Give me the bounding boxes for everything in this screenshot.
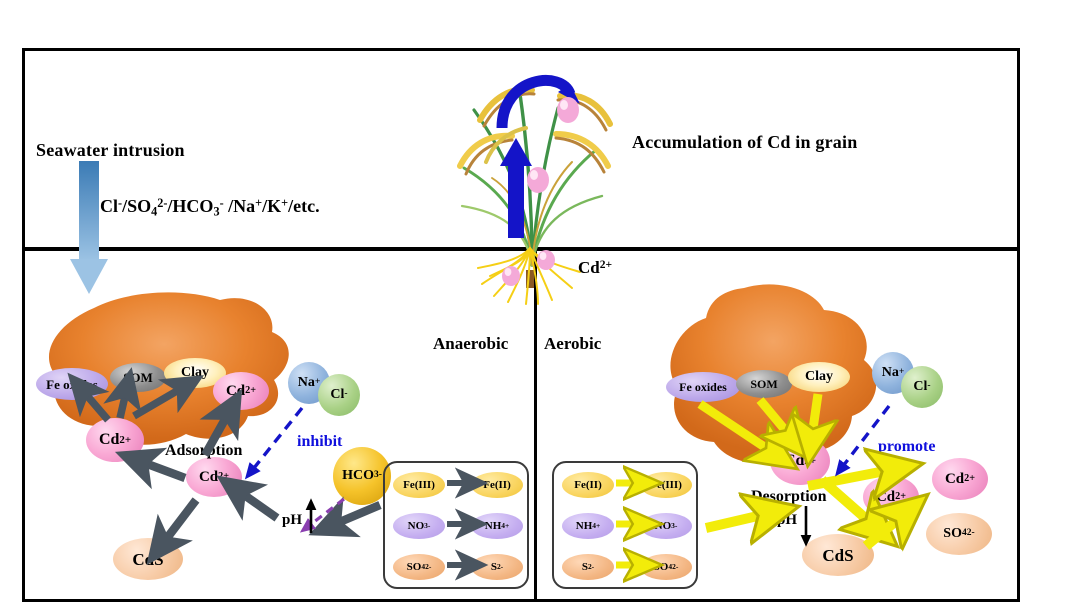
rxn-right-1-to: NO3- <box>640 513 692 539</box>
seawater-intrusion-arrow <box>70 161 108 294</box>
cd-solution-left: Cd2+ <box>186 457 242 497</box>
seawater-arrow-shaft <box>79 161 99 261</box>
reaction-box-aerobic: Fe(II) Fe(III) NH4+ NO3- S2- SO42- <box>552 461 698 589</box>
rxn-right-0-from: Fe(II) <box>562 472 614 498</box>
reaction-box-anaerobic: Fe(III) Fe(II) NO3- NH4+ SO42- S2- <box>383 461 529 589</box>
cd-sphere-grain <box>557 97 579 123</box>
ph-label-left: pH <box>282 512 302 529</box>
rxn-left-2-to: S2- <box>471 554 523 580</box>
seawater-ion-list: Cl-/SO42-/HCO3- /Na+/K+/etc. <box>100 196 320 220</box>
precipitate-cds-right: CdS <box>802 534 874 576</box>
precipitate-cds-left: CdS <box>113 538 183 580</box>
accumulation-title: Accumulation of Cd in grain <box>632 132 857 153</box>
cd-free-right-2: Cd2+ <box>932 458 988 500</box>
rxn-left-0-from: Fe(III) <box>393 472 445 498</box>
phase-som-left: SOM <box>110 363 166 392</box>
rxn-right-0-to: Fe(III) <box>640 472 692 498</box>
cd-sphere-root-1 <box>537 250 555 270</box>
figure-canvas: Seawater intrusion Cl-/SO42-/HCO3- /Na+/… <box>0 0 1080 608</box>
ion-cl-right: Cl- <box>901 366 943 408</box>
zone-label-aerobic: Aerobic <box>544 334 601 354</box>
phase-clay-right: Clay <box>788 362 850 392</box>
cd-sphere-grain-highlight <box>560 100 568 110</box>
rxn-left-2-from: SO42- <box>393 554 445 580</box>
phase-fe-oxides-left: Fe oxides <box>36 368 108 400</box>
rxn-right-1-from: NH4+ <box>562 513 614 539</box>
rxn-right-2-to: SO42- <box>640 554 692 580</box>
rxn-right-2-from: S2- <box>562 554 614 580</box>
phase-som-right: SOM <box>736 370 792 398</box>
rxn-left-1-to: NH4+ <box>471 513 523 539</box>
ion-cl-left: Cl- <box>318 374 360 416</box>
sulfate-right: SO42- <box>926 513 992 555</box>
cd-sphere-stem-highlight <box>530 170 538 180</box>
rxn-left-1-from: NO3- <box>393 513 445 539</box>
rice-panicles <box>460 89 610 174</box>
root-cd-label: Cd2+ <box>578 258 612 278</box>
effect-label-promote: promote <box>878 438 935 456</box>
ph-label-right: pH <box>777 512 797 529</box>
zone-label-anaerobic: Anaerobic <box>433 334 508 354</box>
rice-roots <box>468 248 596 308</box>
cd-sphere-stem <box>527 167 549 193</box>
process-label-desorption: Desorption <box>751 488 827 506</box>
process-label-adsorption: Adsorption <box>165 442 242 460</box>
cd-source-left: Cd2+ <box>86 418 144 462</box>
seawater-intrusion-title: Seawater intrusion <box>36 140 185 161</box>
cd-released-right: Cd2+ <box>770 437 830 485</box>
phase-fe-oxides-right: Fe oxides <box>666 372 740 402</box>
rxn-left-0-to: Fe(II) <box>471 472 523 498</box>
cd-sphere-root-1-highlight <box>540 252 547 260</box>
cd-free-right-1: Cd2+ <box>863 476 919 518</box>
effect-label-inhibit: inhibit <box>297 433 342 451</box>
cd-in-aggregate-left: Cd2+ <box>213 372 269 410</box>
cd-sphere-root-2 <box>502 266 520 286</box>
cd-sphere-root-2-highlight <box>505 268 512 276</box>
